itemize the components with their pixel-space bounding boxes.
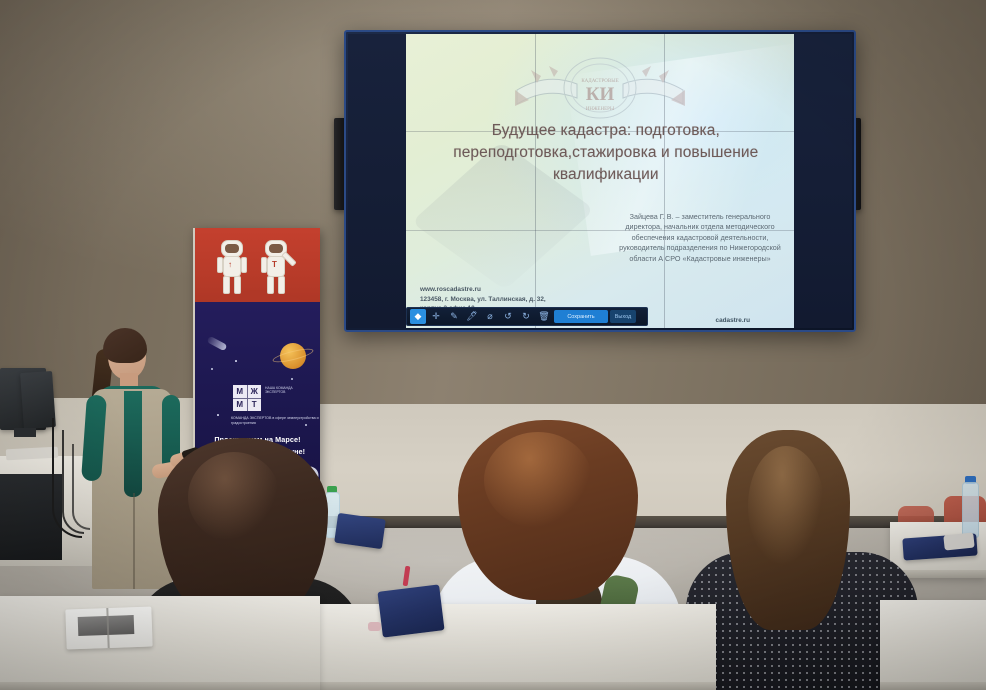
logo-cell-2: Ж <box>248 385 262 398</box>
astronaut-figure-left: ↑ <box>217 240 247 294</box>
astronaut-figure-right: Т <box>261 240 291 294</box>
table-edge <box>296 682 716 690</box>
audience-hair-highlight <box>484 432 592 528</box>
logo-cell-1: М <box>233 385 247 398</box>
astronaut-visor <box>225 244 239 253</box>
astronaut-leg-left <box>267 276 274 294</box>
front-left-table <box>0 596 320 690</box>
mobile-phone[interactable] <box>943 532 974 550</box>
slide-subtitle: Зайцева Г. В. – заместитель генерального… <box>614 212 786 264</box>
save-button[interactable]: Сохранить <box>554 310 608 323</box>
slide-title: Будущее кадастра: подготовка, переподгот… <box>437 120 775 186</box>
slide-footer-right: cadastre.ru <box>716 317 750 324</box>
eraser-tool-icon[interactable]: ⌀ <box>482 309 498 324</box>
table-edge <box>0 682 320 690</box>
table-edge <box>880 682 986 690</box>
slide-footer-line-2: 123458, г. Москва, ул. Таллинская, д. 32… <box>420 295 620 305</box>
banner-logo-caption: НАША КОМАНДА ЭКСПЕРТОВ <box>265 386 309 395</box>
redo-tool-icon[interactable]: ↻ <box>518 309 534 324</box>
emblem-bottom-text: ИНЖЕНЕРЫ <box>586 107 615 112</box>
move-tool-icon[interactable]: ✛ <box>428 309 444 324</box>
astronaut-leg-right <box>234 276 241 294</box>
logo-cell-3: М <box>233 399 247 412</box>
small-cup <box>368 622 381 631</box>
conference-room-scene: КАДАСТРОВЫЕ КИ ИНЖЕНЕРЫ Будущее кадастра… <box>0 0 986 690</box>
exit-button[interactable]: Выход <box>610 310 636 323</box>
front-center-table <box>296 604 716 690</box>
blue-folder-center[interactable] <box>377 584 444 637</box>
annotation-toolbar[interactable]: ◆ ✛ ✎ 🖊 ⌀ ↺ ↻ 🗑 Сохранить Выход <box>406 307 648 326</box>
astronaut-arm-right <box>241 257 247 273</box>
astronaut-badge: ↑ <box>228 260 232 269</box>
presenter-hair <box>103 328 147 363</box>
undo-tool-icon[interactable]: ↺ <box>500 309 516 324</box>
pen-tool-icon[interactable]: ✎ <box>446 309 462 324</box>
display-side-panel-left <box>348 34 406 328</box>
star-icon <box>291 378 293 380</box>
video-wall-display[interactable]: КАДАСТРОВЫЕ КИ ИНЖЕНЕРЫ Будущее кадастра… <box>344 30 856 332</box>
monitor-stand <box>14 428 36 437</box>
kadastrovye-inzhenery-emblem: КАДАСТРОВЫЕ КИ ИНЖЕНЕРЫ <box>507 50 693 122</box>
star-icon <box>217 414 219 416</box>
delete-tool-icon[interactable]: 🗑 <box>536 309 552 324</box>
presenter-vest-seam <box>133 493 135 589</box>
highlighter-tool-icon[interactable]: 🖊 <box>464 309 480 324</box>
display-screen[interactable]: КАДАСТРОВЫЕ КИ ИНЖЕНЕРЫ Будущее кадастра… <box>348 34 852 328</box>
astronaut-leg-right <box>278 276 285 294</box>
audience-hair-highlight <box>748 446 824 566</box>
desktop-monitor-2 <box>20 371 56 429</box>
audience-hair-highlight <box>188 452 280 542</box>
star-icon <box>235 360 237 362</box>
astronaut-suit <box>223 256 241 277</box>
logo-cell-4: Т <box>248 399 262 412</box>
water-bottle-right <box>962 482 979 538</box>
slide-footer-line-1: www.roscadastre.ru <box>420 285 620 295</box>
emblem-monogram: КИ <box>586 84 615 105</box>
astronaut-visor <box>269 244 283 253</box>
display-side-panel-right <box>794 34 852 328</box>
pointer-tool-icon[interactable]: ◆ <box>410 309 426 324</box>
star-icon <box>211 368 213 370</box>
right-side-table <box>880 600 986 690</box>
presentation-slide[interactable]: КАДАСТРОВЫЕ КИ ИНЖЕНЕРЫ Будущее кадастра… <box>406 34 794 328</box>
astronaut-leg-left <box>223 276 230 294</box>
mmt-logo: М Ж М Т <box>233 385 261 411</box>
astronaut-badge: Т <box>272 260 277 269</box>
banner-logo-subtitle: КОМАНДА ЭКСПЕРТОВ в сфере землеустройств… <box>231 416 319 426</box>
